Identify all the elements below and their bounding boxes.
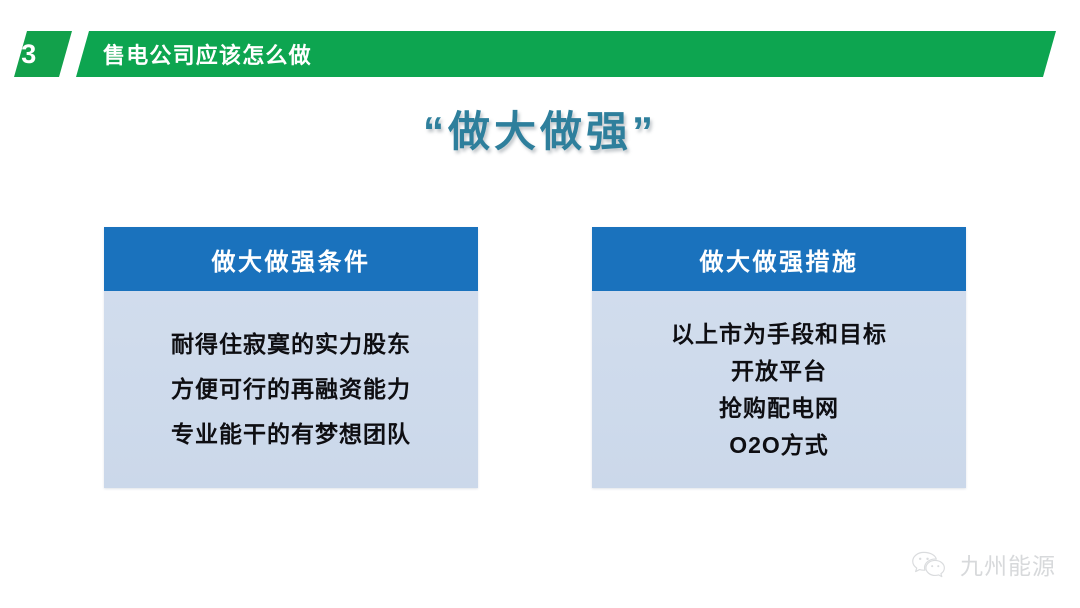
card-measures-line: O2O方式 (729, 434, 829, 457)
section-number-label: 3 (0, 31, 58, 77)
card-conditions-line: 方便可行的再融资能力 (171, 378, 411, 401)
page-title: “做大做强” (0, 108, 1080, 156)
watermark: 九州能源 (910, 547, 1056, 581)
slide-canvas: 3 售电公司应该怎么做 “做大做强” 做大做强条件 耐得住寂寞的实力股东 方便可… (0, 0, 1080, 608)
card-conditions-line: 专业能干的有梦想团队 (171, 423, 411, 446)
card-measures-line: 抢购配电网 (719, 397, 839, 420)
card-measures-header: 做大做强措施 (592, 227, 966, 291)
card-measures-header-label: 做大做强措施 (700, 242, 859, 277)
card-measures: 做大做强措施 以上市为手段和目标 开放平台 抢购配电网 O2O方式 (592, 227, 966, 488)
card-conditions-header-label: 做大做强条件 (212, 242, 371, 277)
wechat-icon (910, 549, 950, 579)
card-conditions-body: 耐得住寂寞的实力股东 方便可行的再融资能力 专业能干的有梦想团队 (104, 291, 478, 488)
card-measures-line: 开放平台 (731, 360, 827, 383)
header-title: 售电公司应该怎么做 (103, 31, 312, 77)
card-measures-body: 以上市为手段和目标 开放平台 抢购配电网 O2O方式 (592, 291, 966, 488)
card-conditions-header: 做大做强条件 (104, 227, 478, 291)
card-conditions-line: 耐得住寂寞的实力股东 (171, 333, 411, 356)
card-conditions: 做大做强条件 耐得住寂寞的实力股东 方便可行的再融资能力 专业能干的有梦想团队 (104, 227, 478, 488)
watermark-label: 九州能源 (960, 547, 1056, 581)
card-measures-line: 以上市为手段和目标 (671, 323, 887, 346)
